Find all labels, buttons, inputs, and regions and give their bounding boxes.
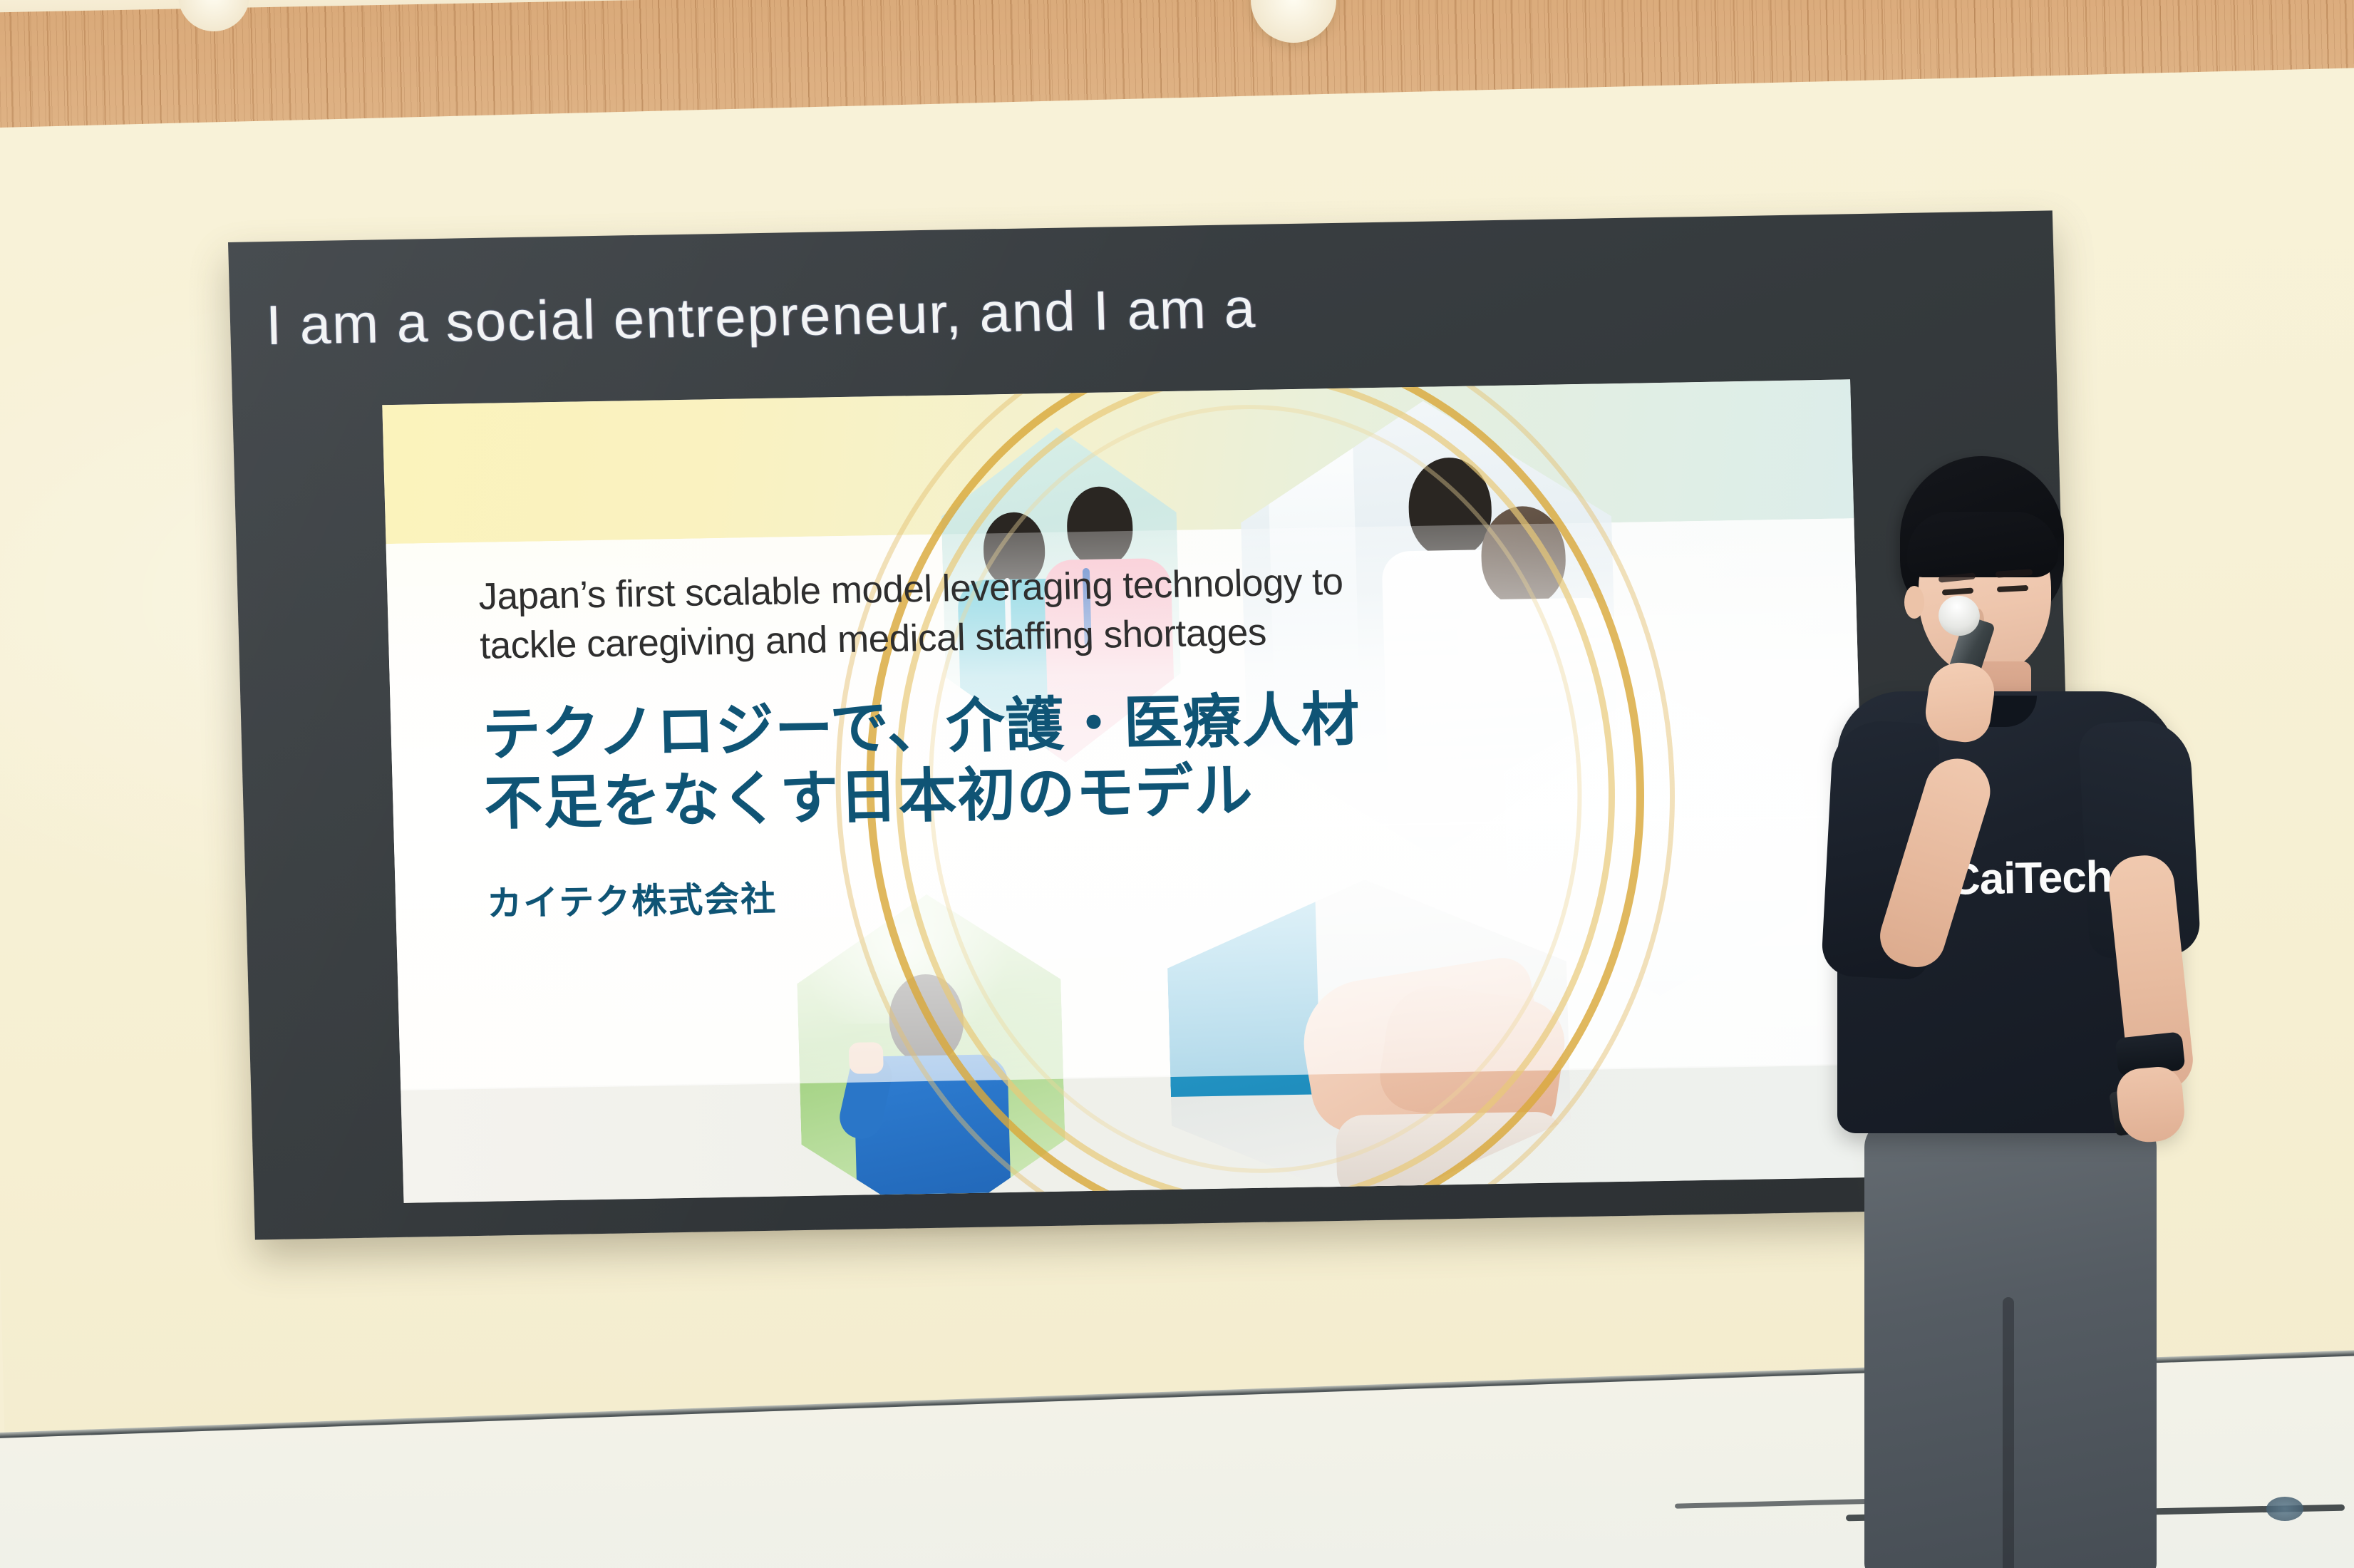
speaker-fringe bbox=[1907, 512, 2058, 577]
room-background: I am a social entrepreneur, and I am a bbox=[0, 0, 2354, 1568]
subtitle-caption: I am a social entrepreneur, and I am a bbox=[265, 270, 1834, 353]
speaker-person: CaiTech bbox=[1796, 456, 2252, 1568]
slide-top-gradient-band bbox=[382, 379, 1854, 544]
slide-text-block: Japan’s first scalable model leveraging … bbox=[478, 557, 1414, 927]
speaker-leg-separation bbox=[2003, 1297, 2014, 1568]
floor-object-round bbox=[2266, 1497, 2303, 1521]
speaker-ear bbox=[1904, 586, 1924, 619]
presentation-slide[interactable]: Japan’s first scalable model leveraging … bbox=[382, 379, 1872, 1203]
